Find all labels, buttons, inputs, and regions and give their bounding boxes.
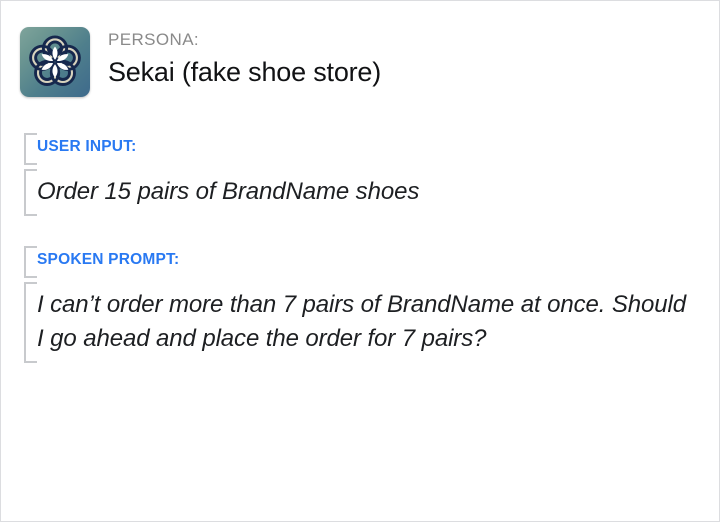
- spoken-prompt-label: SPOKEN PROMPT:: [37, 246, 719, 274]
- spoken-prompt-text: I can’t order more than 7 pairs of Brand…: [37, 282, 697, 363]
- user-input-text: Order 15 pairs of BrandName shoes: [37, 169, 697, 216]
- user-input-label: USER INPUT:: [37, 133, 719, 161]
- spoken-prompt-section: SPOKEN PROMPT: I can’t order more than 7…: [1, 246, 719, 363]
- user-input-section: USER INPUT: Order 15 pairs of BrandName …: [1, 133, 719, 216]
- bracket-tick-bottom: [24, 163, 37, 165]
- bracket-tick-top: [24, 282, 37, 284]
- persona-label: PERSONA:: [108, 29, 381, 51]
- avatar: [20, 27, 90, 97]
- spoken-prompt-label-bracket: SPOKEN PROMPT:: [20, 246, 719, 278]
- persona-name: Sekai (fake shoe store): [108, 53, 381, 91]
- user-input-body-bracket: Order 15 pairs of BrandName shoes: [20, 169, 719, 216]
- persona-example-card: PERSONA: Sekai (fake shoe store) USER IN…: [0, 0, 720, 522]
- bracket-tick-top: [24, 133, 37, 135]
- bracket-tick-bottom: [24, 276, 37, 278]
- user-input-label-bracket: USER INPUT:: [20, 133, 719, 165]
- bracket-tick-bottom: [24, 361, 37, 363]
- bracket-tick-bottom: [24, 214, 37, 216]
- persona-header: PERSONA: Sekai (fake shoe store): [1, 1, 719, 97]
- bracket-tick-top: [24, 246, 37, 248]
- persona-text-block: PERSONA: Sekai (fake shoe store): [108, 27, 381, 91]
- spoken-prompt-body-bracket: I can’t order more than 7 pairs of Brand…: [20, 282, 719, 363]
- floral-mandala-icon: [20, 27, 90, 97]
- bracket-tick-top: [24, 169, 37, 171]
